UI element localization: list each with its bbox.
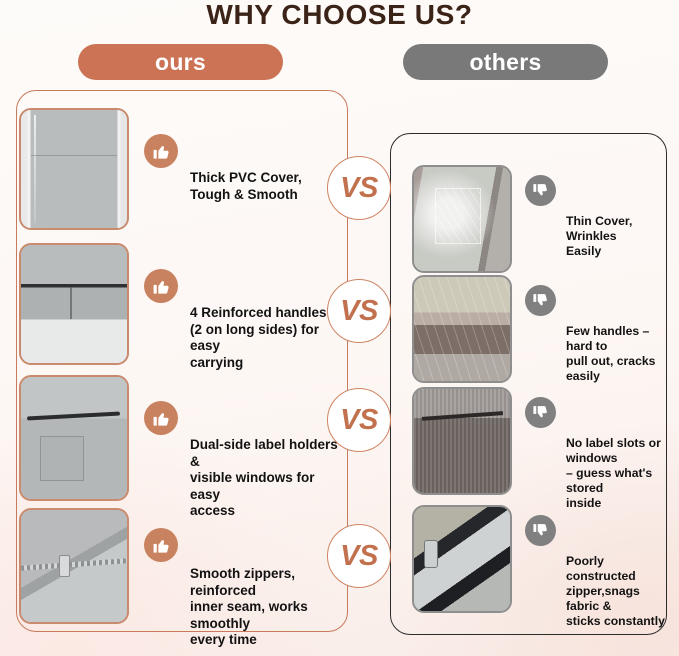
header-pill-ours-label: ours <box>155 49 206 76</box>
smooth-zipper-photo-art <box>21 510 127 622</box>
thin-cover-photo-art <box>414 167 510 271</box>
ours-row-4-text: Smooth zippers, reinforced inner seam, w… <box>190 508 339 649</box>
vs-badge-2: VS <box>327 279 391 343</box>
reinforced-handles-photo <box>19 243 129 365</box>
vs-badge-2-label: VS <box>340 295 378 328</box>
others-row-1: Thin Cover, Wrinkles Easily <box>412 165 674 273</box>
vs-badge-4: VS <box>327 524 391 588</box>
ours-row-3: Dual-side label holders & visible window… <box>19 375 339 520</box>
others-row-2-text: Few handles – hard to pull out, cracks e… <box>566 275 674 384</box>
page-title: WHY CHOOSE US? <box>0 0 679 30</box>
vs-badge-3: VS <box>327 388 391 452</box>
vs-badge-1-label: VS <box>340 172 378 205</box>
others-row-3: No label slots or windows – guess what's… <box>412 387 674 511</box>
thumbs-down-icon <box>525 515 556 546</box>
thumbs-up-icon <box>144 528 178 562</box>
vs-badge-4-label: VS <box>340 540 378 573</box>
infographic-root: WHY CHOOSE US? ours others Thick PVC Cov… <box>0 0 679 656</box>
thumbs-down-icon <box>525 397 556 428</box>
thumbs-up-icon <box>144 269 178 303</box>
reinforced-handles-photo-art <box>21 245 127 363</box>
no-label-photo-art <box>414 389 510 493</box>
thumbs-down-icon <box>525 285 556 316</box>
label-holder-photo <box>19 375 129 501</box>
pvc-cover-photo <box>19 108 129 230</box>
vs-badge-3-label: VS <box>340 404 378 437</box>
few-handles-photo-art <box>414 277 510 381</box>
thin-cover-photo <box>412 165 512 273</box>
thumbs-up-icon <box>144 134 178 168</box>
ours-row-4: Smooth zippers, reinforced inner seam, w… <box>19 508 339 649</box>
pvc-cover-photo-art <box>21 110 127 228</box>
ours-row-1-text: Thick PVC Cover, Tough & Smooth <box>190 108 302 203</box>
vs-badge-1: VS <box>327 156 391 220</box>
no-label-photo <box>412 387 512 495</box>
others-row-4: Poorly constructed zipper,snags fabric &… <box>412 505 674 629</box>
header-pill-others-label: others <box>469 49 541 76</box>
thumbs-up-icon <box>144 401 178 435</box>
others-row-4-text: Poorly constructed zipper,snags fabric &… <box>566 505 674 629</box>
others-row-2: Few handles – hard to pull out, cracks e… <box>412 275 674 384</box>
few-handles-photo <box>412 275 512 383</box>
label-holder-photo-art <box>21 377 127 499</box>
thumbs-down-icon <box>525 175 556 206</box>
smooth-zipper-photo <box>19 508 129 624</box>
header-pill-others: others <box>403 44 608 80</box>
others-row-3-text: No label slots or windows – guess what's… <box>566 387 674 511</box>
ours-row-1: Thick PVC Cover, Tough & Smooth <box>19 108 339 230</box>
poor-zipper-photo-art <box>414 507 510 611</box>
ours-row-2-text: 4 Reinforced handles (2 on long sides) f… <box>190 243 339 371</box>
ours-row-3-text: Dual-side label holders & visible window… <box>190 375 339 520</box>
header-pill-ours: ours <box>78 44 283 80</box>
others-row-1-text: Thin Cover, Wrinkles Easily <box>566 165 674 259</box>
ours-row-2: 4 Reinforced handles (2 on long sides) f… <box>19 243 339 371</box>
poor-zipper-photo <box>412 505 512 613</box>
